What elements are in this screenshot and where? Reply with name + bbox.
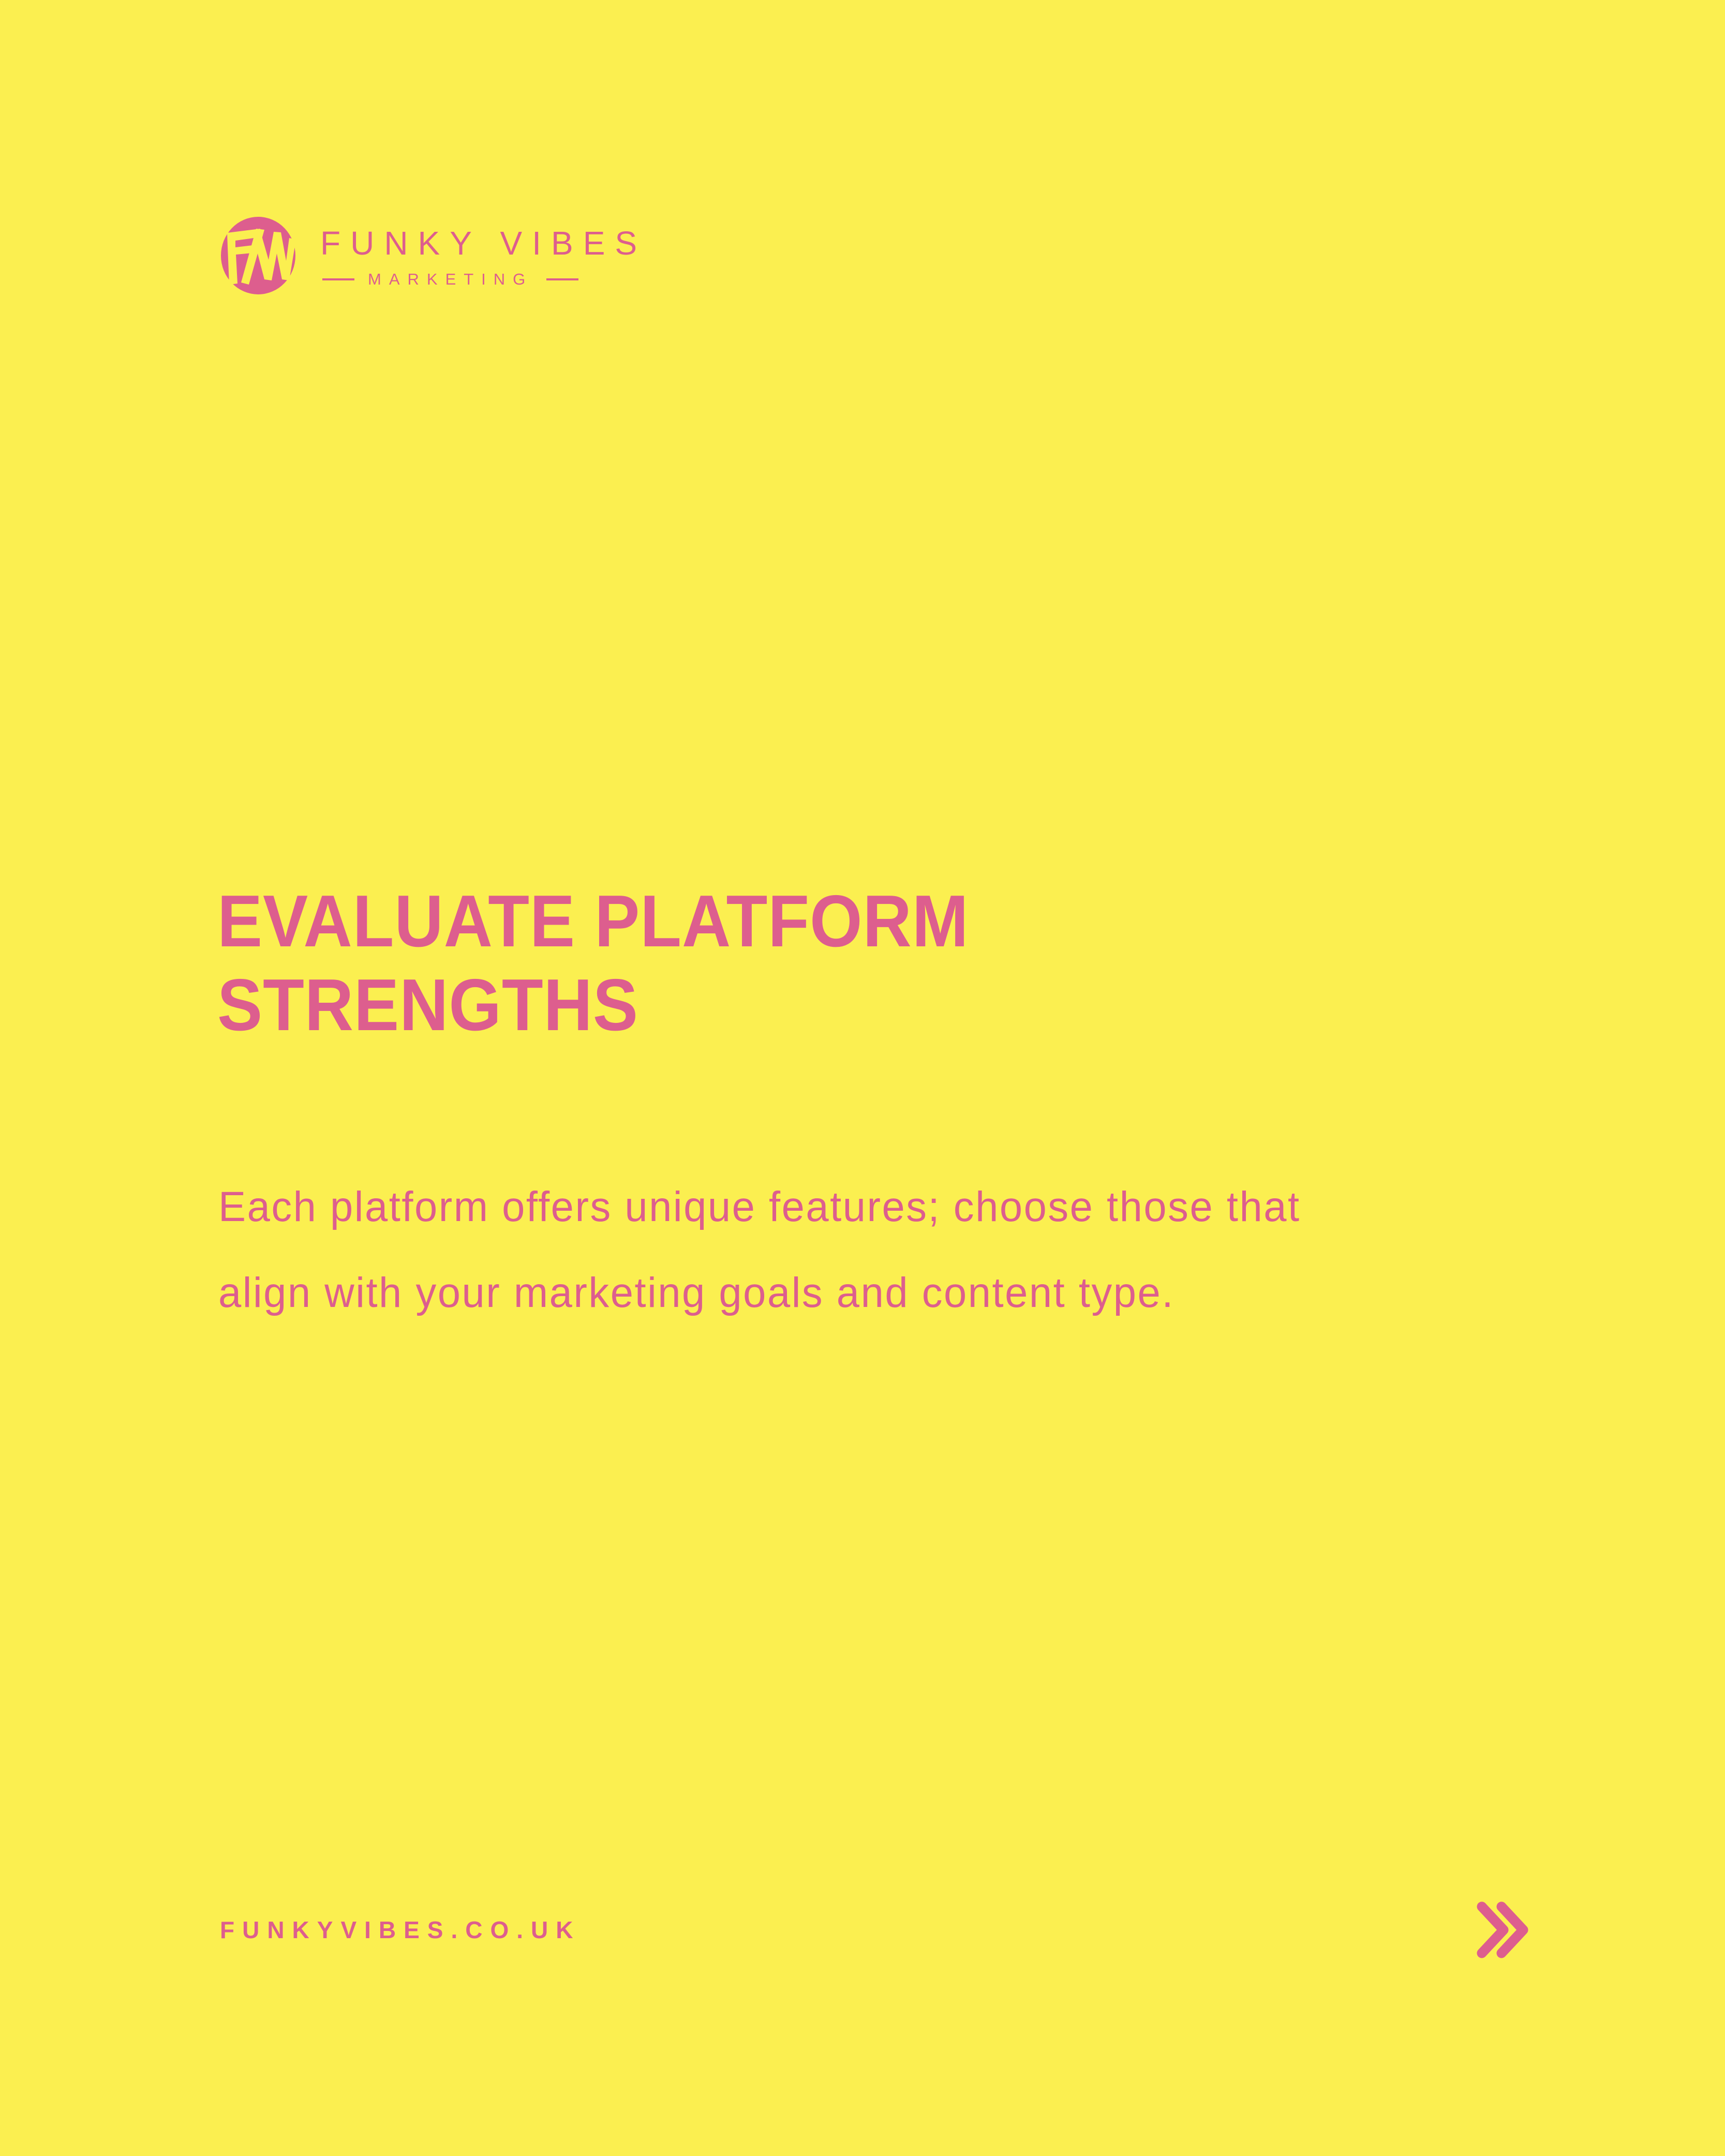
brand-logo[interactable]: FUNKY VIBES MARKETING bbox=[220, 216, 647, 295]
brand-wordmark: FUNKY VIBES MARKETING bbox=[320, 224, 647, 287]
fvm-monogram-circle-icon bbox=[220, 216, 296, 295]
brand-tagline-row: MARKETING bbox=[322, 271, 578, 287]
website-url[interactable]: FUNKYVIBES.CO.UK bbox=[220, 1918, 581, 1942]
body-paragraph: Each platform offers unique features; ch… bbox=[218, 1164, 1382, 1336]
brand-tagline: MARKETING bbox=[368, 271, 533, 287]
tagline-rule-left bbox=[322, 278, 354, 280]
double-chevron-right-icon[interactable] bbox=[1475, 1899, 1528, 1960]
page-title: EVALUATE PLATFORM STRENGTHS bbox=[217, 880, 1169, 1047]
footer: FUNKYVIBES.CO.UK bbox=[220, 1894, 1528, 1966]
slide-canvas: FUNKY VIBES MARKETING EVALUATE PLATFORM … bbox=[0, 0, 1725, 2156]
brand-name: FUNKY VIBES bbox=[320, 226, 647, 261]
tagline-rule-right bbox=[546, 278, 578, 280]
